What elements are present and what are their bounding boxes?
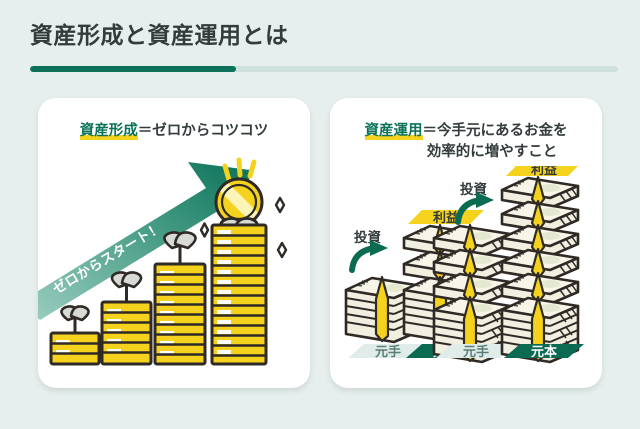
sprout-icon [164, 232, 195, 264]
label-motode-2: 元手 [463, 344, 489, 359]
coin-stack-3 [155, 232, 205, 364]
accumulation-illustration: ゼロからスタート！ [38, 150, 310, 388]
term-asset-accumulation: 資産形成 [80, 123, 138, 140]
title-underline-accent [30, 66, 236, 72]
label-motode-1: 元手 [375, 344, 401, 359]
equals-sign-accumulation: ＝ [138, 123, 153, 139]
label-ganpon-2: 元本 [531, 344, 557, 359]
page-title: 資産形成と資産運用とは [30, 22, 620, 50]
money-group-4: 利益 元本 [502, 166, 584, 362]
page-header: 資産形成と資産運用とは [30, 22, 620, 50]
coin-stack-2 [102, 272, 151, 364]
title-underline [30, 66, 618, 72]
equals-sign-management: ＝ [423, 123, 438, 139]
sprout-icon [112, 272, 141, 302]
card-accumulation-heading: 資産形成＝ゼロからコツコツ [38, 121, 310, 142]
definition-management-line2: 効率的に増やすこと [330, 142, 602, 163]
coin-stack-1 [51, 306, 99, 364]
arrow-banner-label: ゼロからスタート！ [50, 219, 165, 297]
label-rieki-2: 利益 [531, 166, 557, 177]
invest-label-2: 投資 [460, 181, 487, 197]
term-asset-management: 資産運用 [365, 123, 423, 140]
invest-label-1: 投資 [354, 229, 381, 245]
definition-management-line1: 今手元にあるお金を [437, 123, 568, 139]
card-asset-management: 資産運用＝今手元にあるお金を 効率的に増やすこと [330, 98, 602, 388]
card-asset-accumulation: 資産形成＝ゼロからコツコツ ゼロからスタート！ [38, 98, 310, 388]
invest-arrow-1: 投資 [352, 229, 388, 270]
card-management-heading: 資産運用＝今手元にあるお金を 効率的に増やすこと [330, 121, 602, 163]
sprout-icon [61, 306, 88, 333]
definition-accumulation: ゼロからコツコツ [152, 123, 268, 139]
management-illustration: 元手 投資 利益 元本 投資 [330, 166, 602, 388]
coin-icon [216, 179, 262, 225]
